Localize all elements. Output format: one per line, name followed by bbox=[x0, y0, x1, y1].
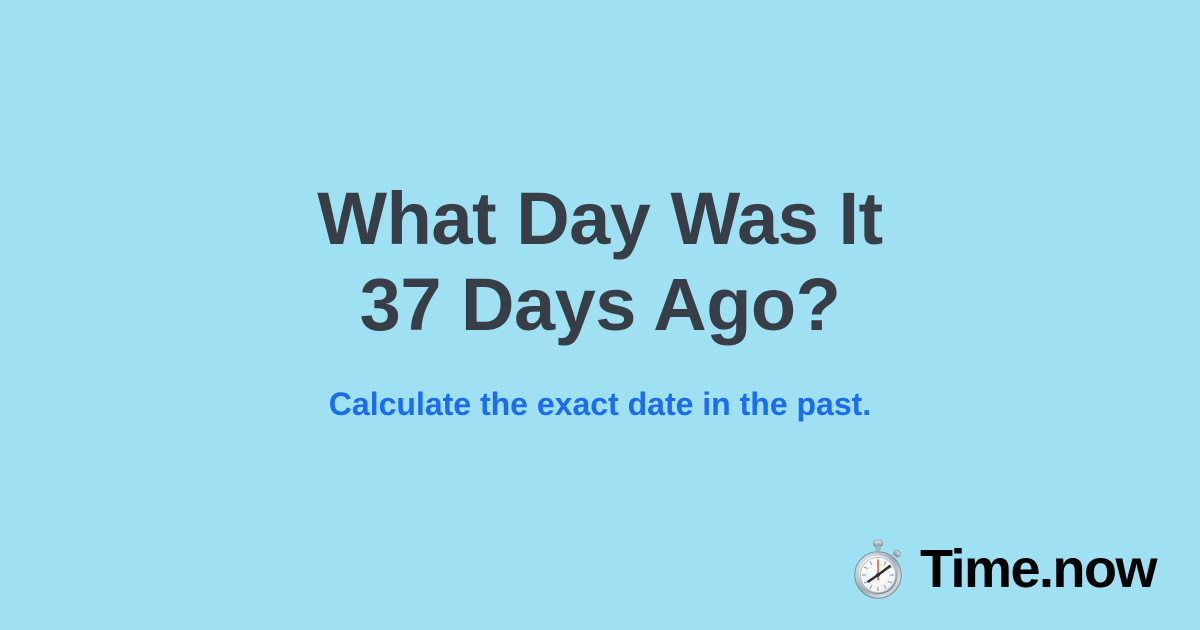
site-logo[interactable]: Time.now bbox=[848, 538, 1156, 600]
open-graph-card: What Day Was It 37 Days Ago? Calculate t… bbox=[0, 0, 1200, 630]
page-title: What Day Was It 37 Days Ago? bbox=[0, 176, 1200, 348]
stopwatch-icon bbox=[848, 538, 908, 600]
page-title-line-2: 37 Days Ago? bbox=[0, 262, 1200, 348]
page-title-line-1: What Day Was It bbox=[0, 176, 1200, 262]
logo-wordmark: Time.now bbox=[920, 540, 1156, 598]
page-subtitle: Calculate the exact date in the past. bbox=[0, 384, 1200, 424]
